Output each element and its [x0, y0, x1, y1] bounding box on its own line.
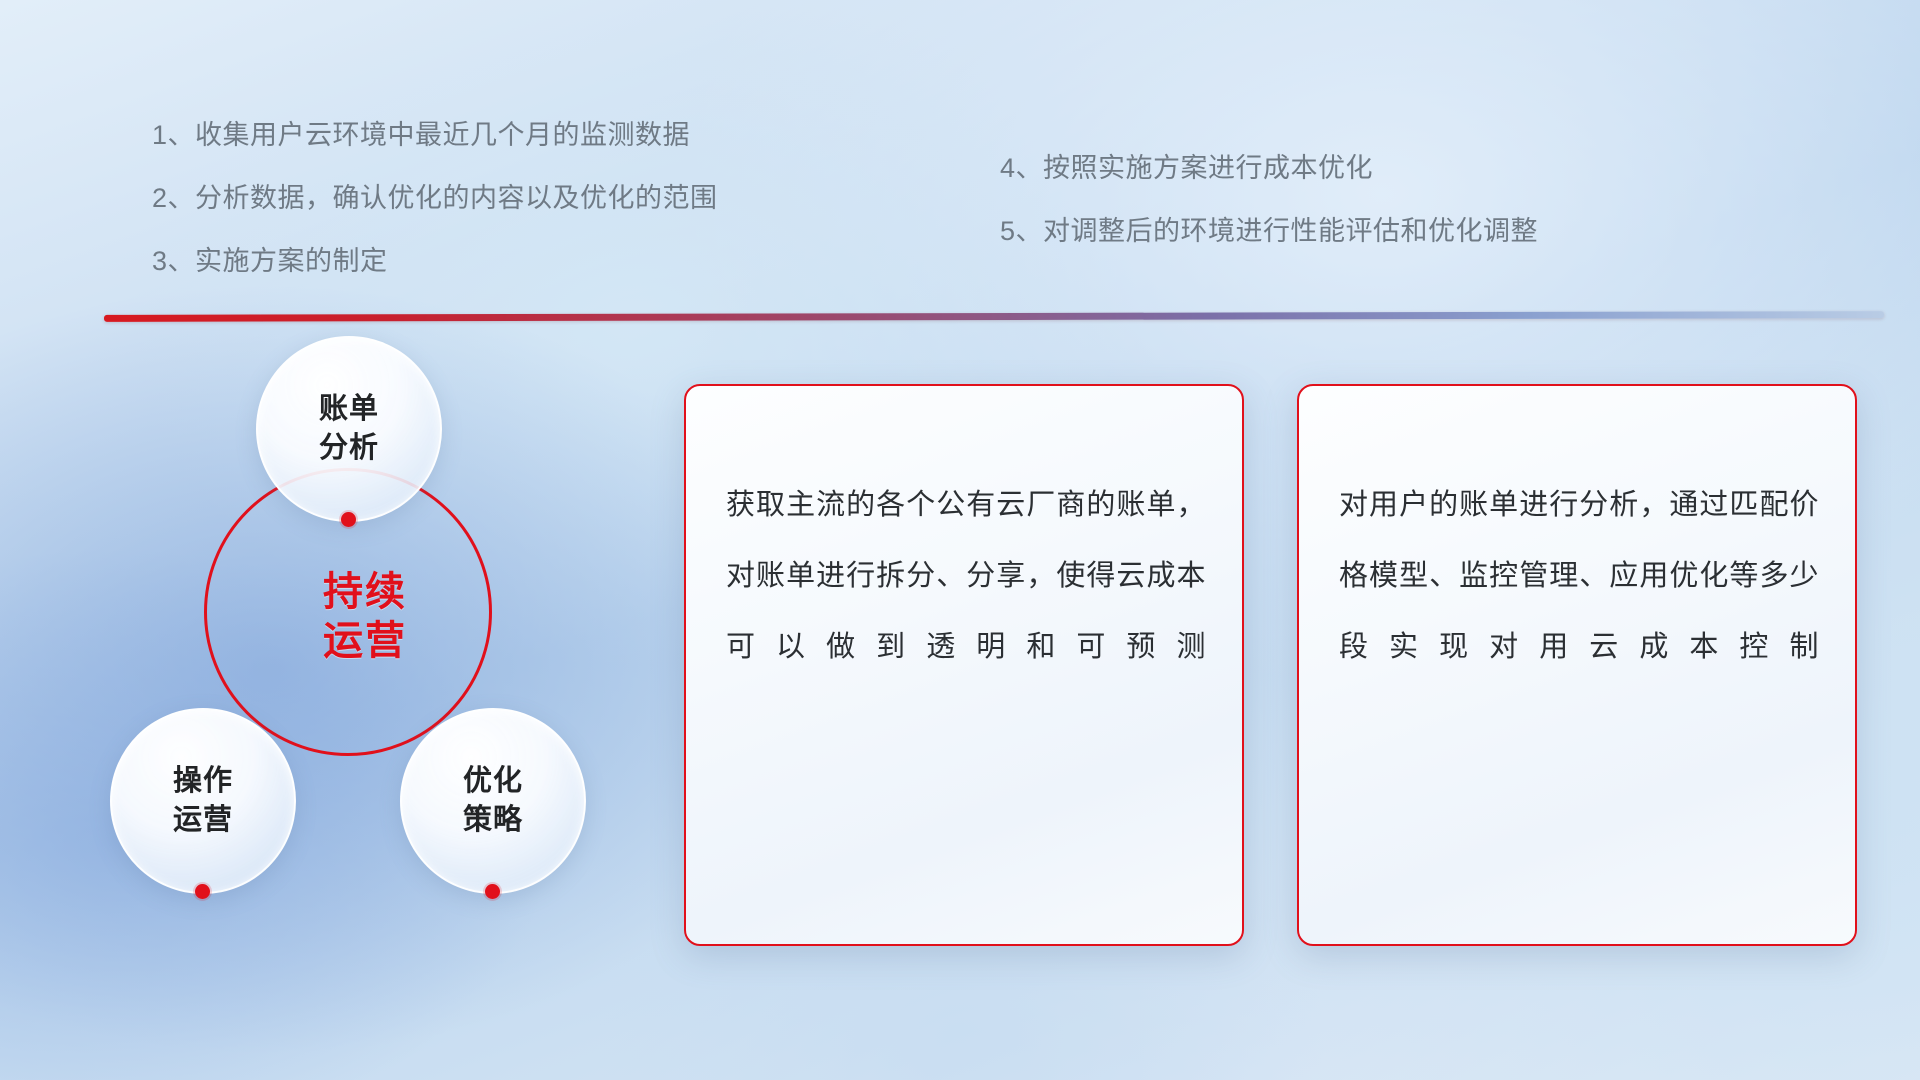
card-body-text: 获取主流的各个公有云厂商的账单，对账单进行拆分、分享，使得云成本可以做到透明和可… [726, 470, 1206, 683]
node-label-operations: 操作 运营 [173, 762, 233, 840]
card-body-text: 对用户的账单进行分析，通过匹配价格模型、监控管理、应用优化等多少段实现对用云成本… [1339, 470, 1819, 683]
node-bubble-billing-analysis[interactable]: 账单 分析 [256, 336, 442, 522]
step-item-2: 2、分析数据，确认优化的内容以及优化的范围 [152, 185, 718, 212]
step-item-5: 5、对调整后的环境进行性能评估和优化调整 [1000, 218, 1538, 245]
node-bubble-optimization-strategy[interactable]: 优化 策略 [400, 708, 586, 894]
info-card-cloud-cost-optimization[interactable]: 对用户的账单进行分析，通过匹配价格模型、监控管理、应用优化等多少段实现对用云成本… [1297, 384, 1857, 946]
step-item-3: 3、实施方案的制定 [152, 248, 718, 275]
process-steps-list: 1、收集用户云环境中最近几个月的监测数据 2、分析数据，确认优化的内容以及优化的… [0, 0, 1920, 300]
node-label-optimization-strategy: 优化 策略 [463, 762, 523, 840]
node-connector-dot-top [341, 512, 356, 527]
node-connector-dot-bottom-left [195, 884, 210, 899]
steps-column-left: 1、收集用户云环境中最近几个月的监测数据 2、分析数据，确认优化的内容以及优化的… [152, 122, 718, 311]
diagram-center-label: 持续 运营 [100, 568, 630, 666]
step-item-4: 4、按照实施方案进行成本优化 [1000, 155, 1538, 182]
steps-column-right: 4、按照实施方案进行成本优化 5、对调整后的环境进行性能评估和优化调整 [1000, 155, 1538, 281]
info-card-multicloud-billing[interactable]: 获取主流的各个公有云厂商的账单，对账单进行拆分、分享，使得云成本可以做到透明和可… [684, 384, 1244, 946]
node-bubble-operations[interactable]: 操作 运营 [110, 708, 296, 894]
step-item-1: 1、收集用户云环境中最近几个月的监测数据 [152, 122, 718, 149]
node-connector-dot-bottom-right [485, 884, 500, 899]
continuous-operation-diagram: 持续 运营 账单 分析 操作 运营 优化 策略 [100, 350, 630, 950]
node-label-billing-analysis: 账单 分析 [319, 390, 379, 468]
